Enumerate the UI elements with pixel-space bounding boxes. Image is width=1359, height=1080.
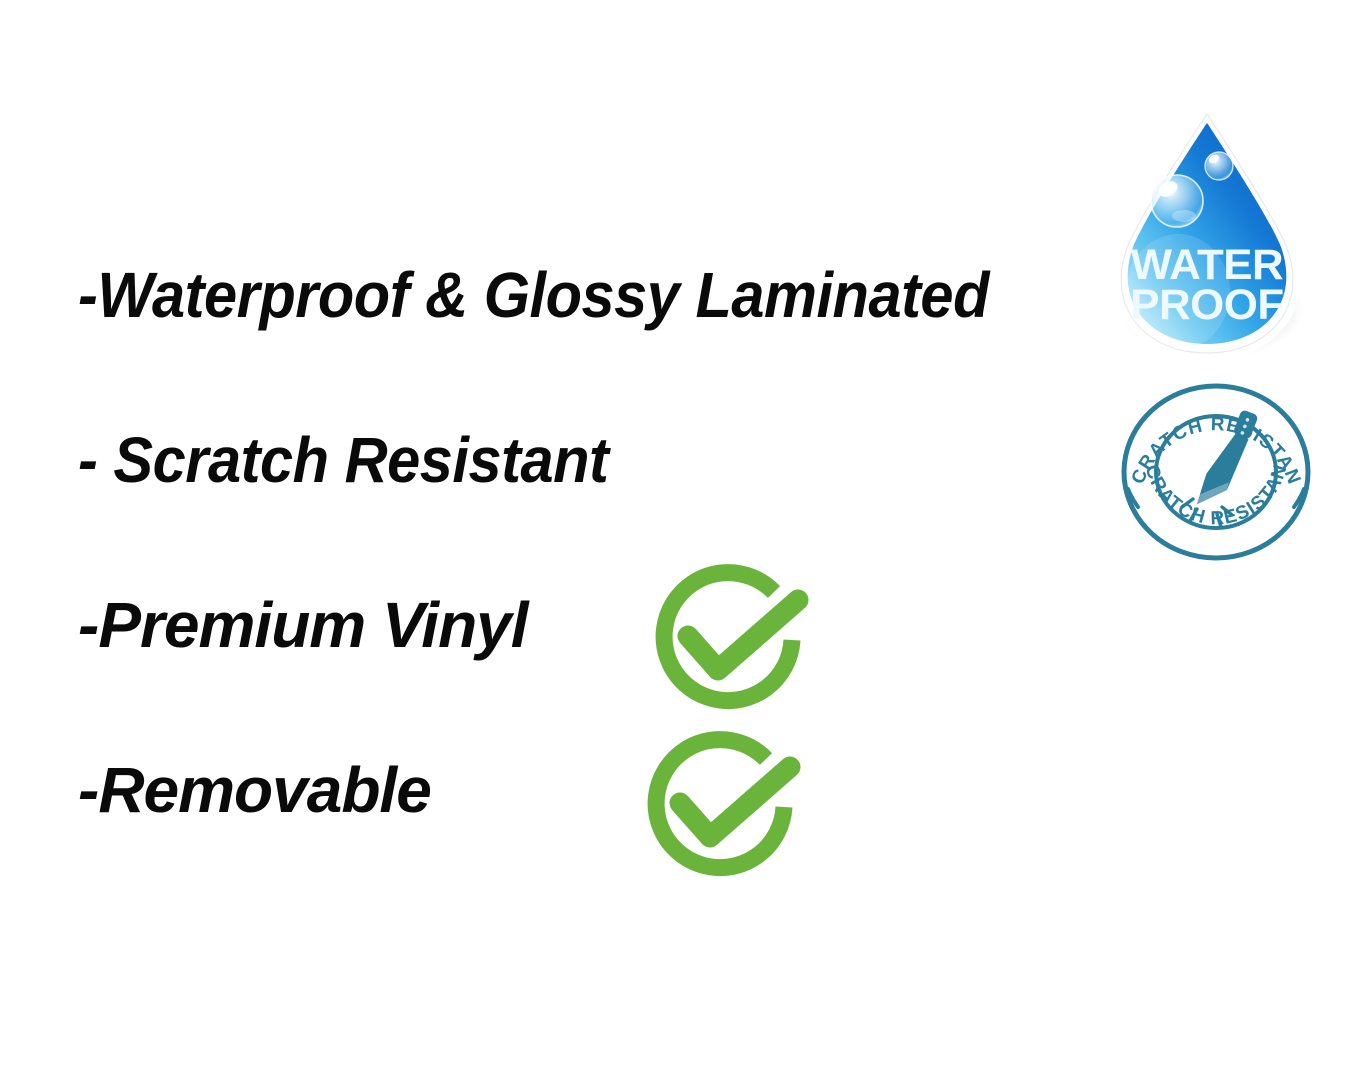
feature-item-premium-vinyl: -Premium Vinyl xyxy=(78,589,528,661)
waterproof-line-2: PROOF xyxy=(1130,281,1283,329)
feature-label-scratch-resistant: - Scratch Resistant xyxy=(78,425,608,495)
feature-label-premium-vinyl: -Premium Vinyl xyxy=(78,590,528,660)
scratch-resistant-badge: SCRATCH RESISTANT SCRATCH RESISTANT xyxy=(1118,381,1314,563)
waterproof-badge: WATER PROOF xyxy=(1108,104,1308,360)
feature-item-removable: -Removable xyxy=(78,754,431,826)
feature-label-waterproof: -Waterproof & Glossy Laminated xyxy=(78,260,989,330)
feature-item-scratch-resistant: - Scratch Resistant xyxy=(78,424,648,496)
bubble-small xyxy=(1205,152,1233,180)
bubble-large xyxy=(1151,175,1203,227)
feature-callout-graphic: -Waterproof & Glossy Laminated - Scratch… xyxy=(0,0,1359,1080)
feature-item-waterproof: -Waterproof & Glossy Laminated xyxy=(78,259,1058,331)
check-circle-premium-vinyl xyxy=(640,556,840,716)
feature-label-removable: -Removable xyxy=(78,755,431,825)
check-circle-removable xyxy=(632,723,832,883)
